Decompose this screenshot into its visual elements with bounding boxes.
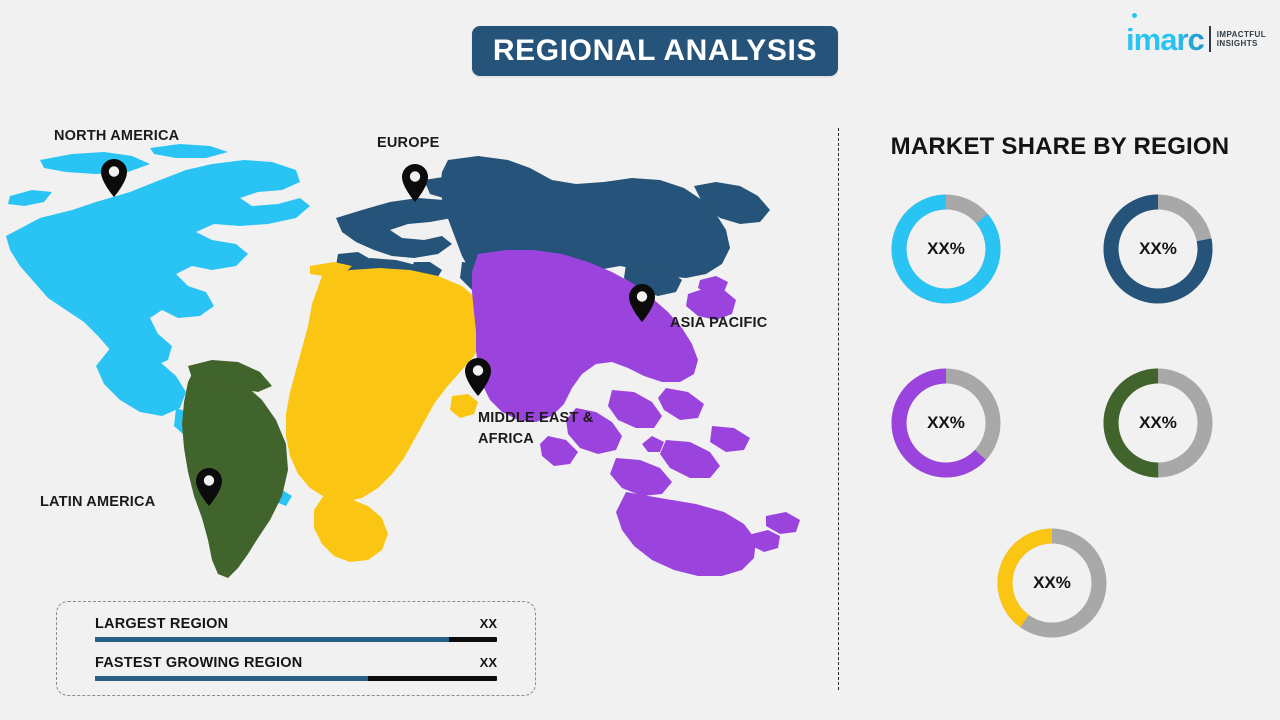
- legend-value-largest-region: XX: [480, 616, 497, 631]
- legend-bar-fill-fastest-growing-region: [95, 676, 368, 681]
- infographic-canvas: REGIONAL ANALYSIS imarc IMPACTFUL INSIGH…: [0, 0, 1280, 720]
- donut-chart-asia-pacific: XX%: [886, 363, 1006, 483]
- logo-dot-icon: [1132, 13, 1137, 18]
- donut-label-asia-pacific: XX%: [886, 363, 1006, 483]
- page-title-banner: REGIONAL ANALYSIS: [472, 26, 838, 76]
- region-label-middle-east-africa: MIDDLE EAST & AFRICA: [478, 408, 593, 450]
- location-pin-icon-north-america[interactable]: [99, 158, 129, 198]
- legend-bar-fastest-growing-region: [95, 676, 497, 681]
- location-pin-icon-middle-east-africa[interactable]: [463, 357, 493, 397]
- logo-divider: [1209, 26, 1211, 52]
- legend-row-largest-region: LARGEST REGION XX: [95, 616, 497, 642]
- region-summary-box: LARGEST REGION XX FASTEST GROWING REGION…: [56, 601, 536, 696]
- donut-chart-latin-america: XX%: [1098, 363, 1218, 483]
- world-map: [0, 140, 820, 580]
- donut-label-europe: XX%: [1098, 189, 1218, 309]
- donut-label-latin-america: XX%: [1098, 363, 1218, 483]
- legend-bar-largest-region: [95, 637, 497, 642]
- page-title: REGIONAL ANALYSIS: [493, 34, 817, 68]
- region-label-north-america: NORTH AMERICA: [54, 126, 179, 147]
- donut-chart-europe: XX%: [1098, 189, 1218, 309]
- location-pin-icon-europe[interactable]: [400, 163, 430, 203]
- donut-chart-middle-east-africa: XX%: [992, 523, 1112, 643]
- legend-label-fastest-growing-region: FASTEST GROWING REGION: [95, 655, 302, 671]
- logo-tagline: IMPACTFUL INSIGHTS: [1217, 30, 1266, 49]
- region-label-latin-america: LATIN AMERICA: [40, 492, 155, 513]
- location-pin-icon-latin-america[interactable]: [194, 467, 224, 507]
- imarc-logo: imarc IMPACTFUL INSIGHTS: [1126, 22, 1266, 56]
- panel-divider: [838, 128, 839, 690]
- donut-label-middle-east-africa: XX%: [992, 523, 1112, 643]
- market-share-title: MARKET SHARE BY REGION: [860, 133, 1260, 161]
- legend-label-largest-region: LARGEST REGION: [95, 616, 228, 632]
- logo-tagline-line2: INSIGHTS: [1217, 39, 1266, 48]
- legend-row-fastest-growing-region: FASTEST GROWING REGION XX: [95, 655, 497, 681]
- legend-value-fastest-growing-region: XX: [480, 655, 497, 670]
- logo-tagline-line1: IMPACTFUL: [1217, 30, 1266, 39]
- legend-bar-fill-largest-region: [95, 637, 449, 642]
- location-pin-icon-asia-pacific[interactable]: [627, 283, 657, 323]
- donut-label-north-america: XX%: [886, 189, 1006, 309]
- donut-chart-north-america: XX%: [886, 189, 1006, 309]
- region-label-europe: EUROPE: [377, 133, 439, 154]
- logo-wordmark: imarc: [1126, 24, 1207, 55]
- region-label-asia-pacific: ASIA PACIFIC: [670, 313, 767, 334]
